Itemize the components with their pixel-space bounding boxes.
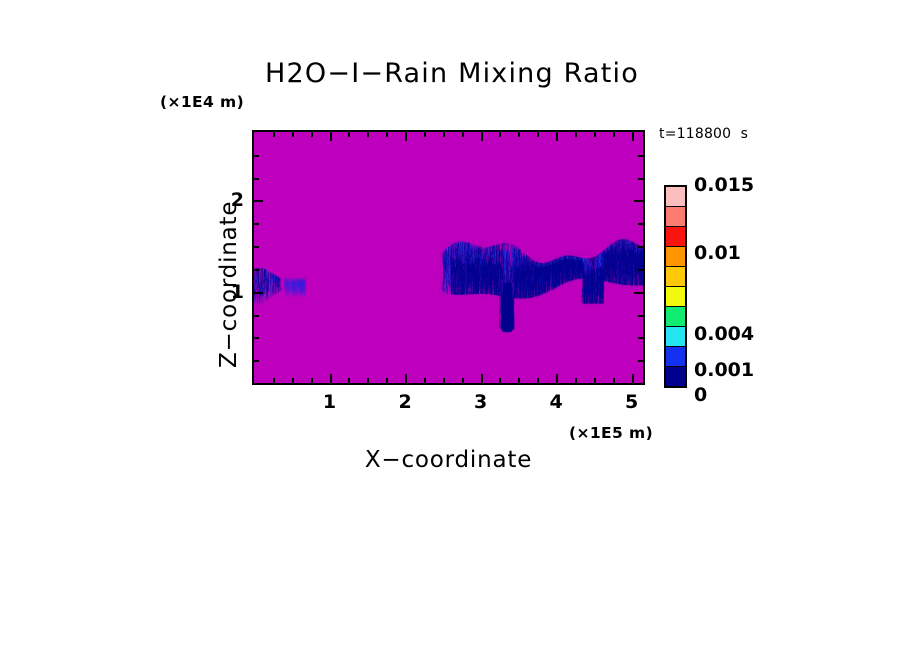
x-minor-tick xyxy=(273,378,275,383)
x-minor-tick-top xyxy=(594,132,596,137)
x-major-tick xyxy=(556,374,558,383)
x-minor-tick xyxy=(424,378,426,383)
y-minor-tick xyxy=(254,246,259,248)
y-minor-tick-right xyxy=(638,246,643,248)
y-minor-tick xyxy=(254,337,259,339)
y-minor-tick-right xyxy=(638,315,643,317)
x-major-tick-top xyxy=(481,132,483,141)
colorbar-band-salmon xyxy=(666,206,685,226)
x-minor-tick xyxy=(443,378,445,383)
x-minor-tick-top xyxy=(518,132,520,137)
x-minor-tick xyxy=(462,378,464,383)
y-minor-tick-right xyxy=(638,337,643,339)
x-tick-label: 1 xyxy=(323,391,336,413)
x-tick-label: 2 xyxy=(398,391,411,413)
x-axis-unit-label: (×1E5 m) xyxy=(569,424,653,442)
colorbar-band-pink xyxy=(666,187,685,206)
x-minor-tick xyxy=(613,378,615,383)
x-minor-tick-top xyxy=(499,132,501,137)
y-major-tick-right xyxy=(634,292,643,294)
x-major-tick-top xyxy=(632,132,634,141)
plot-area xyxy=(252,130,645,385)
chart-title: H2O−I−Rain Mixing Ratio xyxy=(0,58,904,89)
colorbar-label: 0 xyxy=(694,384,707,406)
colorbar-band-cyan xyxy=(666,326,685,346)
colorbar-label: 0.001 xyxy=(694,359,754,381)
y-axis-unit-label: (×1E4 m) xyxy=(160,93,244,111)
x-minor-tick xyxy=(292,378,294,383)
colorbar-label: 0.015 xyxy=(694,174,754,196)
colorbar-band-navy xyxy=(666,366,685,386)
y-major-tick-right xyxy=(634,200,643,202)
x-major-tick xyxy=(481,374,483,383)
y-minor-tick-right xyxy=(638,269,643,271)
x-tick-label: 5 xyxy=(625,391,638,413)
colorbar-band-gold xyxy=(666,266,685,286)
x-major-tick-top xyxy=(405,132,407,141)
x-minor-tick-top xyxy=(424,132,426,137)
x-minor-tick xyxy=(575,378,577,383)
x-tick-label: 3 xyxy=(474,391,487,413)
x-minor-tick-top xyxy=(443,132,445,137)
y-minor-tick-right xyxy=(638,155,643,157)
x-minor-tick xyxy=(518,378,520,383)
x-minor-tick-top xyxy=(575,132,577,137)
colorbar-band-red xyxy=(666,226,685,246)
x-minor-tick-top xyxy=(348,132,350,137)
x-minor-tick xyxy=(386,378,388,383)
colorbar-band-yellow xyxy=(666,286,685,306)
x-major-tick xyxy=(405,374,407,383)
x-minor-tick-top xyxy=(462,132,464,137)
y-minor-tick xyxy=(254,223,259,225)
x-minor-tick xyxy=(367,378,369,383)
x-major-tick-top xyxy=(330,132,332,141)
y-minor-tick xyxy=(254,269,259,271)
y-minor-tick xyxy=(254,155,259,157)
x-minor-tick-top xyxy=(537,132,539,137)
y-major-tick xyxy=(254,292,263,294)
x-minor-tick xyxy=(311,378,313,383)
chart-figure: H2O−I−Rain Mixing Ratio (×1E4 m) t=11880… xyxy=(0,0,904,654)
x-minor-tick-top xyxy=(613,132,615,137)
x-minor-tick-top xyxy=(311,132,313,137)
colorbar xyxy=(664,185,687,388)
y-minor-tick xyxy=(254,360,259,362)
y-minor-tick-right xyxy=(638,178,643,180)
colorbar-label: 0.004 xyxy=(694,323,754,345)
colorbar-band-orange xyxy=(666,246,685,266)
x-minor-tick-top xyxy=(386,132,388,137)
x-major-tick xyxy=(632,374,634,383)
time-annotation: t=118800 s xyxy=(659,126,748,142)
x-major-tick-top xyxy=(556,132,558,141)
colorbar-band-green xyxy=(666,306,685,326)
y-minor-tick-right xyxy=(638,360,643,362)
colorbar-band-blue xyxy=(666,346,685,366)
x-minor-tick xyxy=(348,378,350,383)
x-minor-tick-top xyxy=(367,132,369,137)
x-minor-tick-top xyxy=(273,132,275,137)
x-tick-label: 4 xyxy=(550,391,563,413)
y-axis-title: Z−coordinate xyxy=(216,201,242,368)
y-major-tick xyxy=(254,200,263,202)
y-minor-tick xyxy=(254,178,259,180)
heatmap-canvas xyxy=(254,132,643,383)
y-minor-tick-right xyxy=(638,223,643,225)
x-minor-tick xyxy=(594,378,596,383)
x-minor-tick xyxy=(537,378,539,383)
x-axis-title: X−coordinate xyxy=(252,447,645,473)
x-minor-tick-top xyxy=(292,132,294,137)
y-minor-tick xyxy=(254,315,259,317)
x-major-tick xyxy=(330,374,332,383)
x-minor-tick xyxy=(499,378,501,383)
colorbar-label: 0.01 xyxy=(694,242,741,264)
